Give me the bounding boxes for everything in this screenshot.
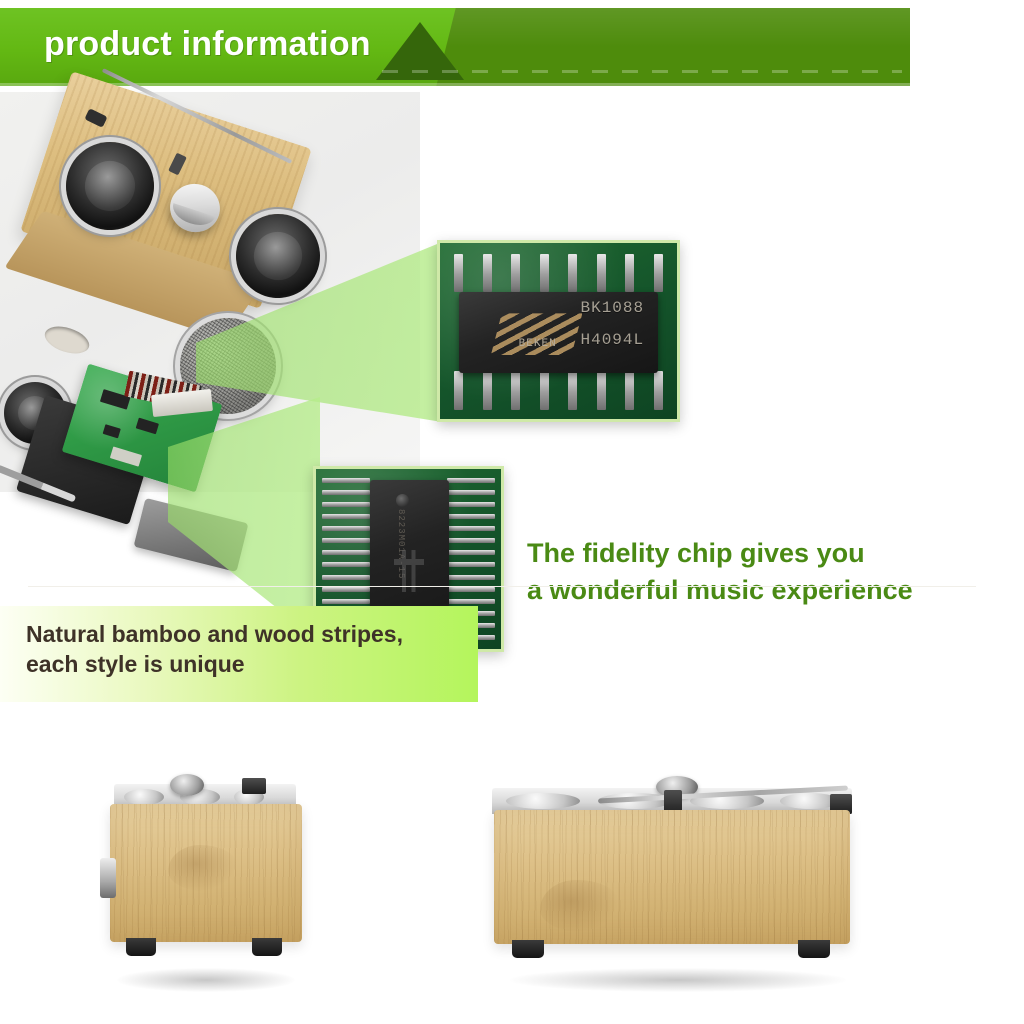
section-fidelity-chip: BEKEN BK1088 H4094L 8223M01A-15 [0,92,1024,572]
chip-closeup-top: BEKEN BK1088 H4094L [437,240,680,422]
product-drop-shadow [117,968,295,992]
rubber-foot-right [798,940,830,958]
bamboo-grain-node [540,880,618,934]
chip-marking-line1: BK1088 [581,299,645,317]
product-photo-side-view [100,780,312,978]
fidelity-headline-line2: a wonderful music experience [527,572,1007,609]
bamboo-caption: Natural bamboo and wood stripes, each st… [26,620,496,680]
tuning-knob [170,774,204,796]
bamboo-caption-line2: each style is unique [26,650,496,680]
product-information-page: product information [0,0,1024,1024]
product-drop-shadow [510,968,846,992]
chip-brand-label: BEKEN [519,338,557,350]
antenna-hinge [242,778,266,794]
bamboo-case-side [110,804,302,942]
bamboo-grain-node [168,845,237,892]
banner-dashed-rule [382,70,902,73]
bamboo-case-front [494,810,850,944]
enclosure-port-hole [41,321,92,358]
bamboo-caption-line1: Natural bamboo and wood stripes, [26,620,496,650]
driver-cone [79,155,141,217]
rubber-foot-right [252,938,282,956]
board-ic-2 [136,418,159,435]
chip-pins-bottom-row [454,371,663,410]
board-ic-3 [102,424,121,438]
section-divider [28,586,976,587]
chip-pin1-dot-icon [396,494,409,507]
deck-speaker-left [124,789,164,805]
rubber-foot-left [126,938,156,956]
chip-marking-line2: H4094L [581,331,645,349]
chip-package-body: BEKEN BK1088 H4094L [459,292,658,373]
side-port [100,858,116,898]
fidelity-headline-line1: The fidelity chip gives you [527,535,1007,572]
product-photo-front-view [478,778,878,978]
page-title: product information [44,25,371,64]
chip-pins-top-row [454,254,663,293]
fidelity-headline: The fidelity chip gives you a wonderful … [527,535,1007,608]
deck-speaker-left [506,793,580,809]
rubber-foot-left [512,940,544,958]
section-header-banner: product information [0,8,910,86]
driver-cone [248,226,307,285]
board-connector [110,446,143,466]
